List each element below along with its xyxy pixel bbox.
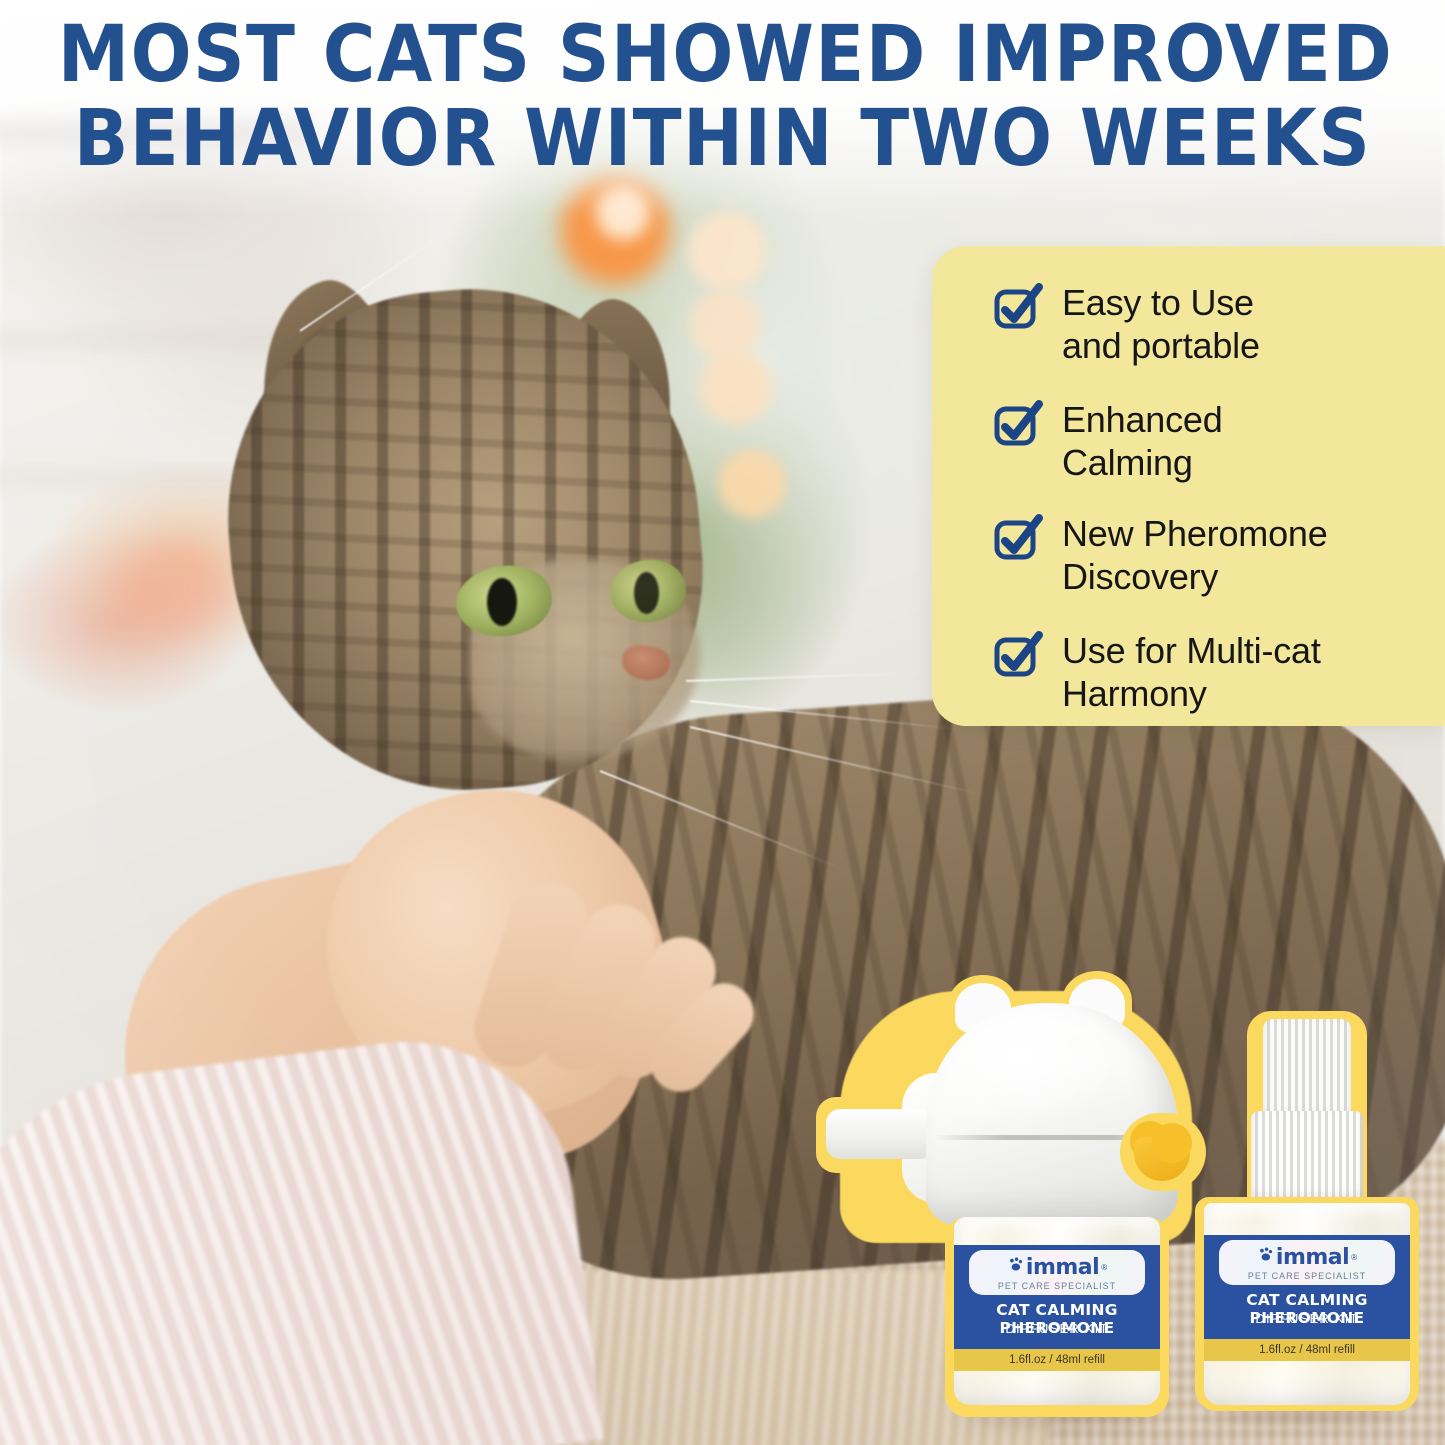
product-marketing-poster: MOST CATS SHOWED IMPROVED BEHAVIOR WITHI… [0, 0, 1445, 1445]
volume-stripe: 1.6fl.oz / 48ml refill [1204, 1339, 1410, 1361]
registered-mark: ® [1101, 1263, 1107, 1272]
checkbox-checked-icon [994, 633, 1040, 679]
feature-item: Use for Multi-cat Harmony [994, 629, 1321, 715]
volume-text: 1.6fl.oz / 48ml refill [1259, 1344, 1355, 1356]
cap-upper [1263, 1019, 1351, 1119]
feature-item: Enhanced Calming [994, 398, 1223, 484]
checkbox-checked-icon [994, 402, 1040, 448]
feature-callout-box: Easy to Use and portable Enhanced Calmin… [932, 246, 1445, 726]
refill-bottle: immal ® PET CARE SPECIALIST CAT CALMING … [1195, 1011, 1419, 1427]
checkbox-checked-icon [994, 285, 1040, 331]
brand-logo: immal ® PET CARE SPECIALIST [1219, 1240, 1395, 1285]
headline-line-2: BEHAVIOR WITHIN TWO WEEKS [58, 102, 1387, 177]
feature-label: Use for Multi-cat Harmony [1062, 629, 1321, 715]
heart-button-icon [1130, 1121, 1196, 1183]
checkbox-checked-icon [994, 516, 1040, 562]
paw-print-icon [1007, 1256, 1024, 1278]
product-type-text: DIFFUSER KIT [954, 1321, 1160, 1336]
brand-name: immal [1026, 1255, 1099, 1280]
product-group: immal ® PET CARE SPECIALIST CAT CALMING … [830, 985, 1445, 1425]
headline-line-1: MOST CATS SHOWED IMPROVED [58, 18, 1387, 93]
feature-label: Easy to Use and portable [1062, 281, 1260, 367]
headline: MOST CATS SHOWED IMPROVED BEHAVIOR WITHI… [0, 18, 1445, 177]
brand-tagline: PET CARE SPECIALIST [1248, 1271, 1366, 1281]
bottle-label: immal ® PET CARE SPECIALIST CAT CALMING … [954, 1245, 1160, 1349]
brand-logo: immal ® PET CARE SPECIALIST [969, 1250, 1145, 1295]
brand-tagline: PET CARE SPECIALIST [998, 1281, 1116, 1291]
diffuser-bottle: immal ® PET CARE SPECIALIST CAT CALMING … [945, 1217, 1169, 1427]
feature-item: Easy to Use and portable [994, 281, 1260, 367]
volume-stripe: 1.6fl.oz / 48ml refill [954, 1349, 1160, 1371]
brand-name: immal [1276, 1245, 1349, 1270]
cap-lower [1251, 1111, 1363, 1203]
diffuser-plug-prong [826, 1109, 934, 1159]
volume-text: 1.6fl.oz / 48ml refill [1009, 1354, 1105, 1366]
bottle-label: immal ® PET CARE SPECIALIST CAT CALMING … [1204, 1235, 1410, 1339]
feature-label: New Pheromone Discovery [1062, 512, 1328, 598]
feature-item: New Pheromone Discovery [994, 512, 1328, 598]
registered-mark: ® [1351, 1253, 1357, 1262]
product-type-text: DIFFUSER KIT [1204, 1311, 1410, 1326]
paw-print-icon [1257, 1246, 1274, 1268]
feature-label: Enhanced Calming [1062, 398, 1223, 484]
ribbed-white-screw-cap [1195, 1011, 1419, 1225]
